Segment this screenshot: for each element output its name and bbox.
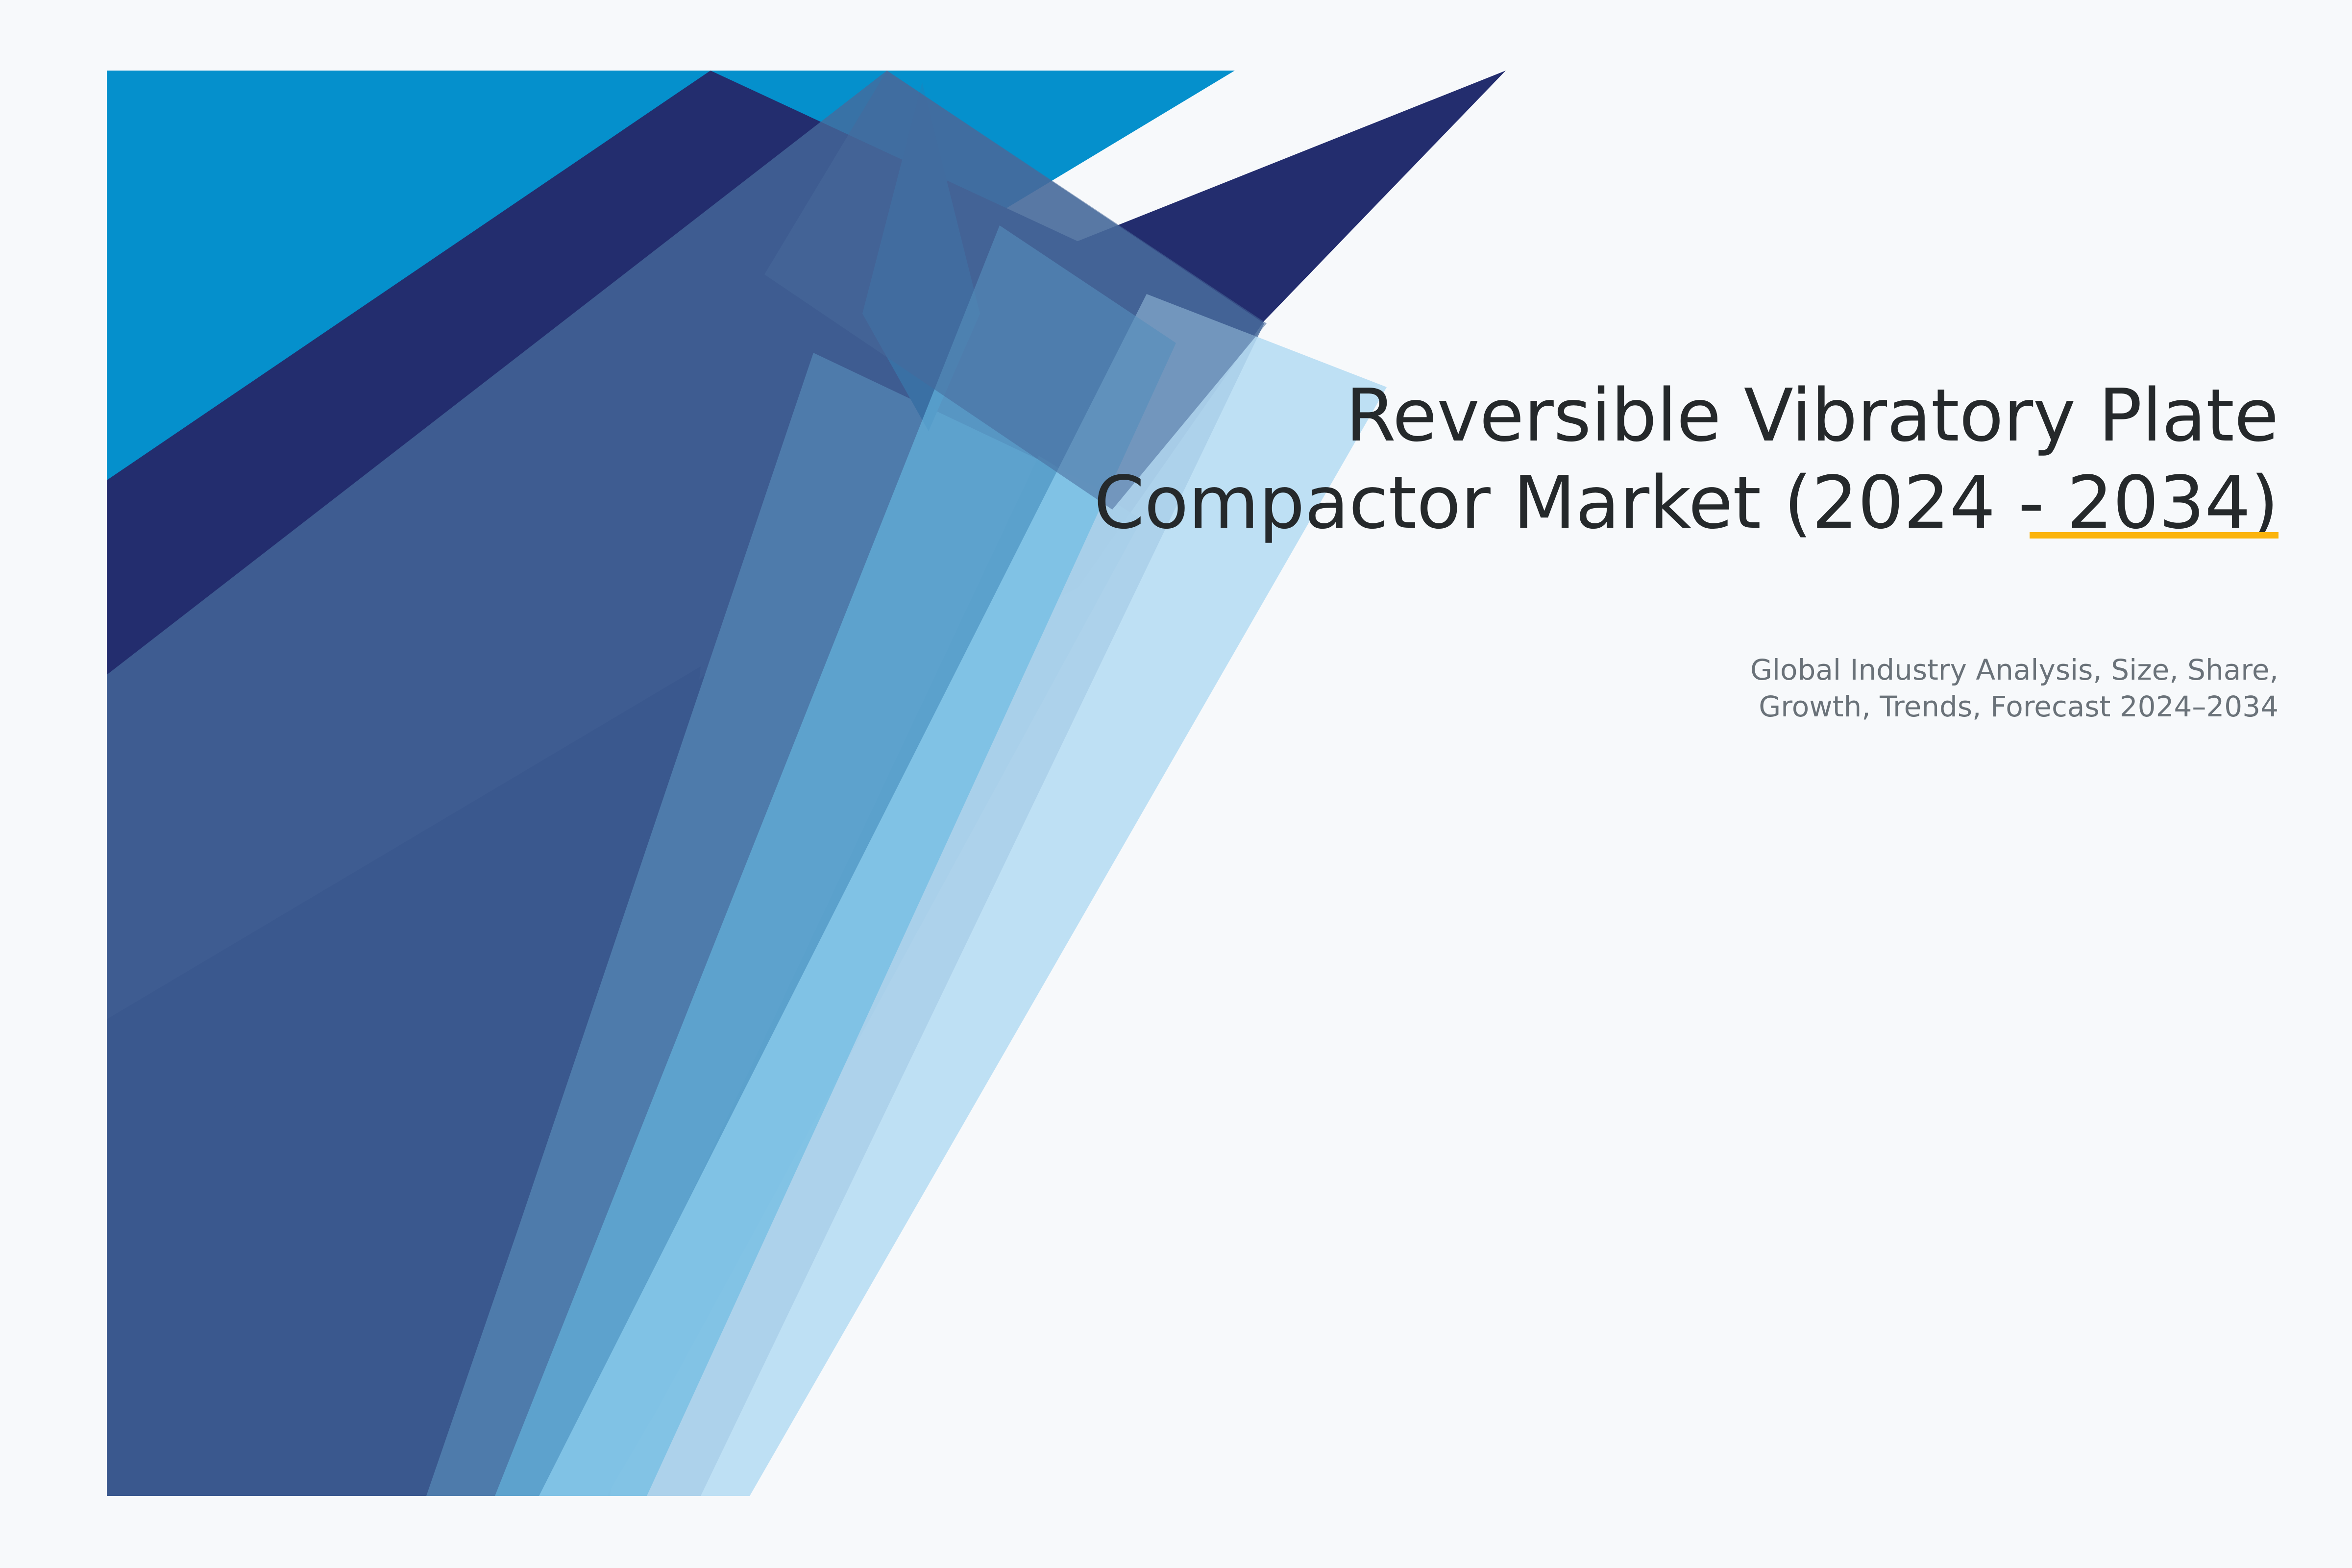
- title-underline-accent: [2030, 532, 2278, 539]
- page-title: Reversible Vibratory Plate Compactor Mar…: [955, 372, 2278, 546]
- abstract-geometric-banner: [0, 0, 2352, 1568]
- report-cover: Reversible Vibratory Plate Compactor Mar…: [0, 0, 2352, 1568]
- cover-subtitle: Global Industry Analysis, Size, Share, G…: [1592, 652, 2278, 726]
- cover-text-block: Reversible Vibratory Plate Compactor Mar…: [955, 372, 2278, 546]
